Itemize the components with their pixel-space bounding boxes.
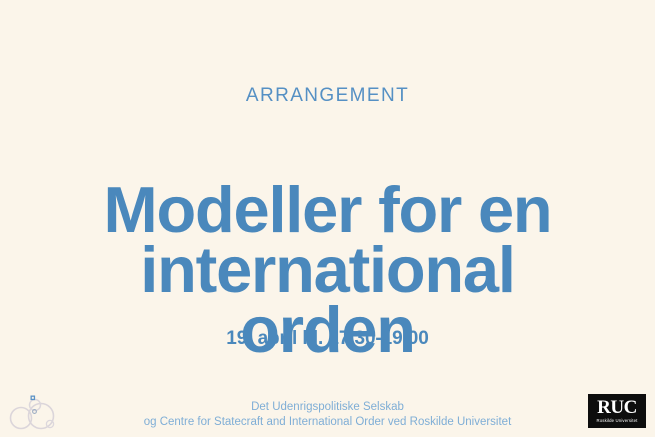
ruc-logo-subtitle: Roskilde Universitet xyxy=(597,419,638,423)
event-poster: ARRANGEMENT Modeller for en internationa… xyxy=(0,0,655,437)
ruc-logo-mark: RUC xyxy=(597,398,637,417)
ruc-logo: RUC Roskilde Universitet xyxy=(588,394,646,428)
organiser-line-2: og Centre for Statecraft and Internation… xyxy=(0,415,655,430)
poster-organisers: Det Udenrigspolitiske Selskab og Centre … xyxy=(0,400,655,430)
organiser-line-1: Det Udenrigspolitiske Selskab xyxy=(0,400,655,415)
poster-kicker: ARRANGEMENT xyxy=(0,86,655,105)
poster-datetime: 19. april kl. 17.30-19.00 xyxy=(0,328,655,351)
